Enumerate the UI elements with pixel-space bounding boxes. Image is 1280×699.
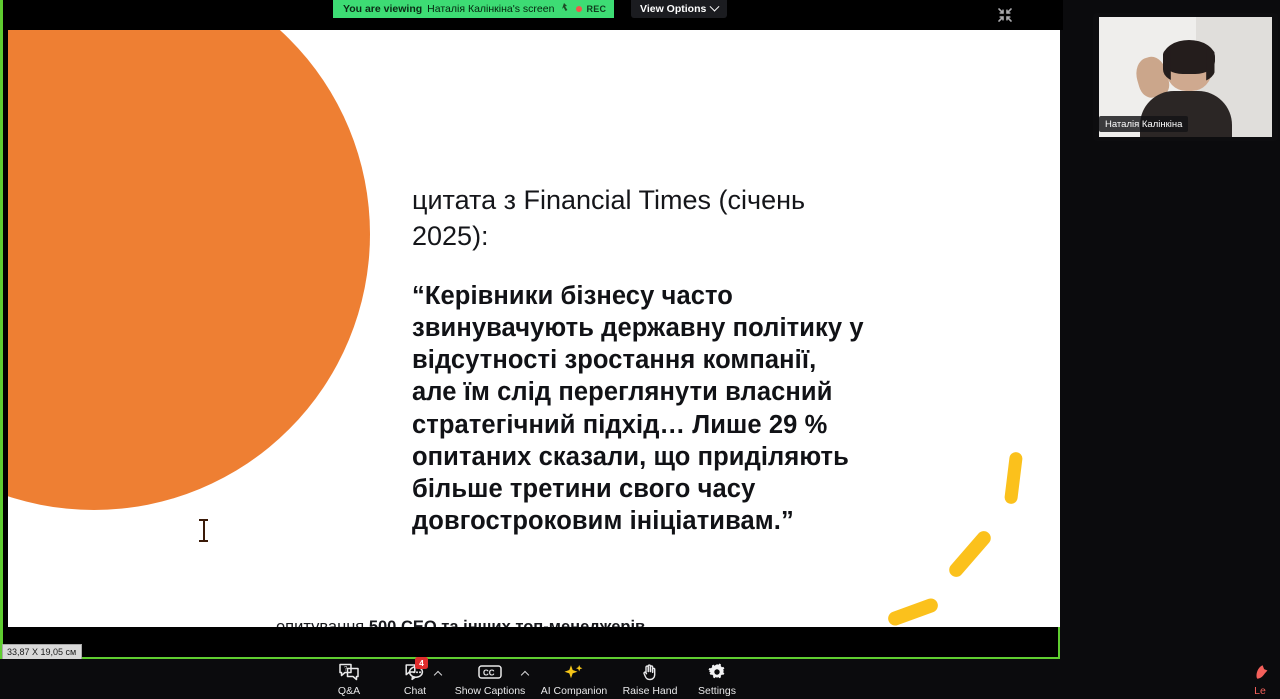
- quote-line: стратегічний підхід… Лише 29 %: [412, 409, 922, 441]
- zoom-meeting-window: You are viewing Наталія Калінкіна's scre…: [0, 0, 1280, 699]
- quote-line: опитаних сказали, що приділяють: [412, 441, 922, 473]
- recording-label: REC: [586, 4, 606, 14]
- yellow-dash-decoration: [886, 597, 940, 627]
- text-cursor-icon: [199, 519, 208, 542]
- participant-name-badge: Наталія Калінкіна: [1099, 116, 1188, 132]
- viewing-prefix-label: You are viewing: [343, 3, 422, 15]
- presentation-slide[interactable]: цитата з Financial Times (січень 2025): …: [8, 30, 1060, 627]
- toolbar-item-raise-hand[interactable]: Raise Hand: [612, 662, 688, 697]
- slide-footnote: опитування 500 CEO та інших топ-менеджер…: [276, 618, 645, 627]
- ai-sparkle-icon: [562, 662, 586, 682]
- toolbar-label-leave: Le: [1254, 685, 1266, 697]
- view-options-label: View Options: [640, 3, 706, 15]
- captions-caret-icon[interactable]: [521, 671, 529, 679]
- exit-fullscreen-icon[interactable]: [996, 6, 1014, 24]
- slide-lead-text: цитата з Financial Times (січень 2025):: [412, 183, 842, 254]
- footnote-emphasis: 500 CEO та інших топ-менеджерів: [369, 618, 645, 627]
- recording-indicator: REC: [576, 4, 606, 14]
- toolbar-label-chat: Chat: [404, 685, 426, 697]
- quote-line: довгостроковим ініціативам.”: [412, 505, 922, 537]
- raise-hand-icon: [640, 662, 660, 682]
- quote-line: звинувачують державну політику у: [412, 312, 922, 344]
- view-options-button[interactable]: View Options: [631, 0, 727, 18]
- shared-screen-frame: You are viewing Наталія Калінкіна's scre…: [0, 0, 1060, 659]
- recording-dot-icon: [576, 6, 582, 12]
- toolbar-label-show-captions: Show Captions: [455, 685, 526, 697]
- gear-icon: [707, 662, 727, 682]
- screen-share-icon: [559, 3, 569, 16]
- slide-quote-text: “Керівники бізнесу часто звинувачують де…: [412, 280, 922, 537]
- toolbar-item-settings[interactable]: Settings: [679, 662, 755, 697]
- qa-icon: ?: [338, 662, 360, 682]
- yellow-dash-decoration: [946, 528, 993, 579]
- meeting-toolbar: ? Q&A 4 Chat: [0, 659, 1280, 699]
- orange-circle-decoration: [8, 30, 370, 510]
- quote-line: але їм слід переглянути власний: [412, 376, 922, 408]
- you-are-viewing-banner: You are viewing Наталія Калінкіна's scre…: [333, 0, 614, 18]
- toolbar-item-chat[interactable]: 4 Chat: [377, 662, 453, 697]
- yellow-dash-decoration: [1004, 451, 1023, 504]
- presenter-name-label: Наталія Калінкіна's screen: [427, 3, 554, 15]
- chevron-down-icon: [710, 1, 720, 11]
- footnote-prefix: опитування: [276, 618, 369, 627]
- chat-unread-badge: 4: [415, 657, 428, 669]
- leave-icon: [1251, 662, 1269, 682]
- slide-size-indicator: 33,87 X 19,05 см: [2, 644, 82, 660]
- quote-line: відсутності зростання компанії,: [412, 344, 922, 376]
- leave-meeting-button[interactable]: Le: [1236, 662, 1280, 697]
- quote-line: більше третини свого часу: [412, 473, 922, 505]
- chat-caret-icon[interactable]: [434, 671, 442, 679]
- toolbar-item-show-captions[interactable]: CC Show Captions: [452, 662, 528, 697]
- toolbar-label-settings: Settings: [698, 685, 736, 697]
- toolbar-label-ai-companion: AI Companion: [541, 685, 608, 697]
- closed-captions-icon: CC: [477, 662, 503, 682]
- toolbar-label-raise-hand: Raise Hand: [623, 685, 678, 697]
- quote-line: “Керівники бізнесу часто: [412, 280, 922, 312]
- toolbar-item-qa[interactable]: ? Q&A: [311, 662, 387, 697]
- toolbar-item-ai-companion[interactable]: AI Companion: [536, 662, 612, 697]
- participant-video-thumbnail[interactable]: Наталія Калінкіна: [1093, 13, 1278, 141]
- chat-icon: 4: [403, 662, 427, 682]
- svg-text:CC: CC: [483, 669, 495, 678]
- toolbar-label-qa: Q&A: [338, 685, 360, 697]
